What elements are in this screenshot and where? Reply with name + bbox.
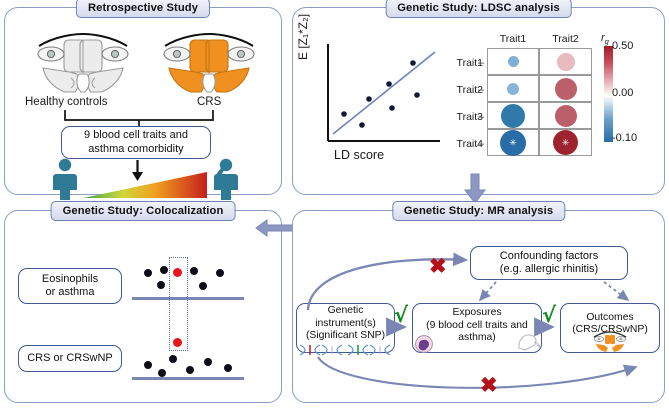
x-mark-confounder-path: ✖: [429, 256, 447, 277]
lung-airway-icon: [516, 332, 542, 352]
instrument-line-3: (Significant SNP): [306, 330, 385, 343]
box-eosinophils-or-asthma: Eosinophils or asthma: [18, 268, 122, 304]
scatter-point: [359, 122, 365, 128]
label-crs: CRS: [197, 96, 221, 108]
snp-dot-shared: [173, 338, 182, 347]
snp-dot: [190, 267, 198, 275]
crs-sinus-icon: [157, 32, 261, 98]
heatmap-dot: [508, 56, 519, 67]
heatmap-dot-significant: ✳: [553, 130, 578, 155]
heatmap-tick-r2: –: [478, 84, 484, 96]
colorbar-title: rg: [601, 32, 609, 46]
scatter-point: [341, 111, 347, 117]
ldsc-scatter-chart: E [Z₁*Z₂] LD score: [300, 40, 448, 170]
heatmap-cell: [487, 75, 539, 102]
box-blood-cell-traits: 9 blood cell traits and asthma comorbidi…: [61, 126, 211, 159]
eos-line-2: or asthma: [42, 286, 98, 300]
eos-line-1: Eosinophils: [42, 273, 98, 287]
heatmap-cell: [539, 102, 592, 129]
colorbar-tick-mid: 0.00: [612, 87, 633, 99]
scatter-x-axis-label: LD score: [334, 148, 384, 162]
mr-dashed-confounder-links: [470, 280, 650, 306]
check-mark-exposure-outcome: √: [542, 305, 556, 326]
label-healthy-controls: Healthy controls: [25, 96, 107, 108]
snp-dot: [186, 366, 194, 374]
heatmap-col-label-trait1: Trait1: [487, 33, 539, 45]
heatmap-tick-r4: –: [478, 138, 484, 150]
snp-dot-shared: [173, 268, 182, 277]
heatmap-cell: [539, 75, 592, 102]
mr-arrow-instrument-to-outcome: [300, 353, 645, 397]
snp-dot: [157, 281, 165, 289]
heatmap-dot: [555, 78, 577, 100]
significance-asterisk: ✳: [509, 138, 517, 147]
snp-dot: [204, 358, 212, 366]
panel-title-ldsc: Genetic Study: LDSC analysis: [385, 0, 572, 18]
heatmap-cell: [539, 48, 592, 75]
person-coughing-icon: [210, 158, 240, 200]
heatmap-tick-r1: –: [478, 57, 484, 69]
panel-colocalization: Genetic Study: Colocalization: [4, 210, 282, 403]
coloc-track-line-top: [132, 297, 244, 300]
panel-title-mr: Genetic Study: MR analysis: [392, 201, 565, 221]
heatmap-dot: [501, 104, 525, 128]
exposure-line-3: asthma): [426, 332, 528, 345]
heatmap-cell: [487, 102, 539, 129]
group-bracket: [63, 108, 215, 128]
severity-gradient-triangle: [81, 168, 209, 200]
colorbar-tick-min: -0.10: [612, 132, 637, 144]
panel-retrospective-study: Retrospective Study Healthy controls CRS: [4, 7, 282, 195]
coloc-track-line-bottom: [132, 377, 244, 380]
heatmap-dot-significant: ✳: [500, 130, 526, 156]
crs-label: CRS or CRSwNP: [27, 352, 113, 366]
heatmap-cell: [487, 48, 539, 75]
scatter-point: [386, 81, 392, 87]
colorbar-tick-max: 0.50: [612, 40, 633, 52]
ldsc-genetic-correlation-heatmap: ✳ ✳: [487, 48, 592, 156]
heatmap-dot: [507, 83, 519, 95]
heatmap-cell: ✳: [487, 129, 539, 156]
outcome-line-1: Outcomes: [572, 312, 648, 325]
scatter-point: [414, 92, 420, 98]
crs-sinus-icon: [592, 331, 628, 353]
snp-dot: [158, 369, 166, 377]
heatmap-dot: [557, 53, 575, 71]
snp-dot: [144, 269, 152, 277]
down-arrow-icon: [464, 174, 486, 204]
x-mark-direct-path: ✖: [480, 375, 498, 396]
snp-dot: [224, 364, 232, 372]
snp-dot: [169, 355, 177, 363]
scatter-y-axis-label: E [Z₁*Z₂]: [296, 0, 310, 60]
exposure-line-2: (9 blood cell traits and: [426, 320, 528, 333]
snp-dot: [216, 269, 224, 277]
scatter-point: [366, 96, 372, 102]
scatter-point: [410, 60, 416, 66]
person-icon: [51, 158, 79, 200]
traits-line-2: asthma comorbidity: [84, 143, 188, 157]
scatter-point: [389, 105, 395, 111]
snp-dot: [144, 361, 152, 369]
snp-dot: [160, 266, 168, 274]
significance-asterisk: ✳: [562, 138, 570, 147]
heatmap-dot: [555, 105, 577, 127]
blood-cell-icon: [414, 335, 434, 353]
snp-dot: [199, 282, 207, 290]
panel-title-retrospective: Retrospective Study: [76, 0, 210, 18]
panel-title-colocalization: Genetic Study: Colocalization: [51, 201, 236, 221]
check-mark-instrument-exposure: √: [394, 305, 408, 326]
heatmap-tick-r3: –: [478, 111, 484, 123]
traits-line-1: 9 blood cell traits and: [84, 129, 188, 143]
box-crs-or-crswnp: CRS or CRSwNP: [18, 345, 122, 372]
healthy-sinus-icon: [31, 32, 135, 98]
heatmap-col-label-trait2: Trait2: [539, 33, 592, 45]
heatmap-cell: ✳: [539, 129, 592, 156]
